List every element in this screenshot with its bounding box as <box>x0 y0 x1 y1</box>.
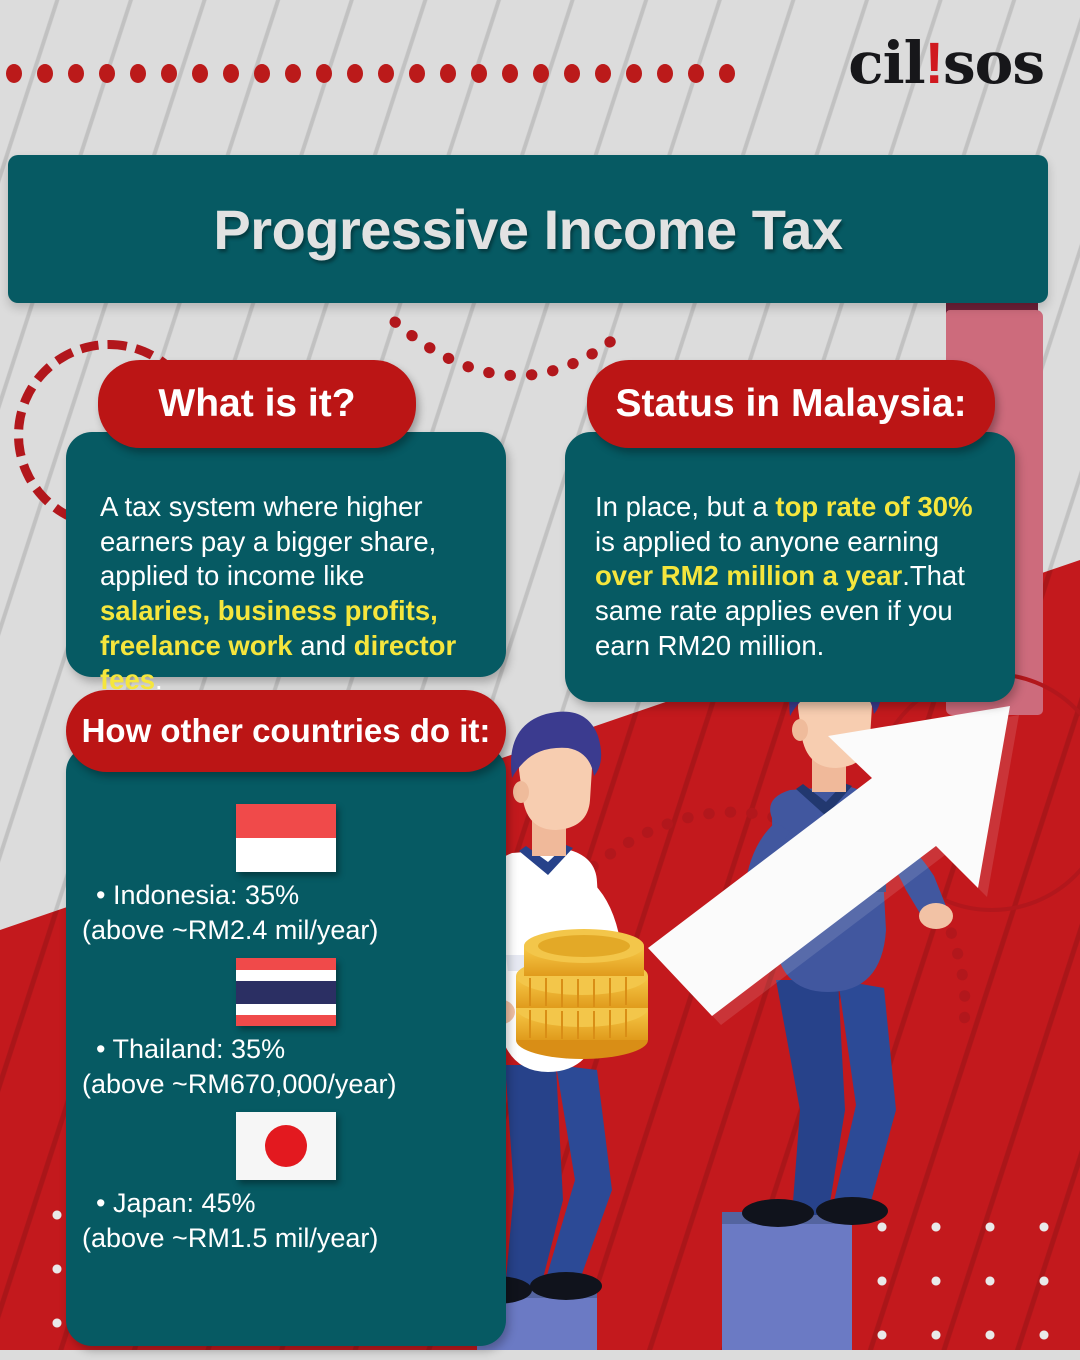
card-status-badge: Status in Malaysia: <box>587 360 995 448</box>
highlighted-text: top rate of 30% <box>775 491 972 522</box>
card-what-body: A tax system where higher earners pay a … <box>100 490 480 698</box>
thailand-flag-icon <box>236 958 336 1026</box>
indonesia-flag-icon <box>236 804 336 872</box>
card-other-countries: How other countries do it: • Indonesia: … <box>66 690 506 1300</box>
logo-text-part2: sos <box>943 34 1044 92</box>
country-text: • Japan: 45%(above ~RM1.5 mil/year) <box>66 1184 506 1256</box>
country-rate-line: • Thailand: 35% <box>96 1032 506 1067</box>
country-threshold-line: (above ~RM1.5 mil/year) <box>82 1221 506 1256</box>
country-threshold-line: (above ~RM2.4 mil/year) <box>82 913 506 948</box>
flag-wrapper <box>66 1106 506 1184</box>
card-status-body: In place, but a top rate of 30% is appli… <box>595 490 995 663</box>
japan-flag-icon <box>236 1112 336 1180</box>
highlighted-text: over RM2 million a year <box>595 560 902 591</box>
body-text: In place, but a <box>595 491 775 522</box>
country-threshold-line: (above ~RM670,000/year) <box>82 1067 506 1102</box>
country-list: • Indonesia: 35%(above ~RM2.4 mil/year)•… <box>66 798 506 1261</box>
flag-wrapper <box>66 952 506 1030</box>
logo-exclamation-icon: ! <box>925 35 943 93</box>
country-item: • Japan: 45%(above ~RM1.5 mil/year) <box>66 1106 506 1256</box>
country-text: • Indonesia: 35%(above ~RM2.4 mil/year) <box>66 876 506 948</box>
country-rate-line: • Indonesia: 35% <box>96 878 506 913</box>
body-text: is applied to anyone earning <box>595 526 939 557</box>
flag-wrapper <box>66 798 506 876</box>
title-band: Progressive Income Tax <box>8 155 1048 303</box>
card-countries-badge: How other countries do it: <box>66 690 506 772</box>
body-text: and <box>293 630 354 661</box>
cilisos-logo[interactable]: cil!sos <box>848 34 1044 93</box>
country-item: • Thailand: 35%(above ~RM670,000/year) <box>66 952 506 1102</box>
logo-text-part1: cil <box>848 34 924 92</box>
page-title: Progressive Income Tax <box>213 197 842 262</box>
card-what-is-it: What is it? A tax system where higher ea… <box>66 360 506 705</box>
body-text: . <box>155 664 163 695</box>
card-what-badge: What is it? <box>98 360 416 448</box>
card-status-in-malaysia: Status in Malaysia: In place, but a top … <box>565 360 1015 705</box>
country-text: • Thailand: 35%(above ~RM670,000/year) <box>66 1030 506 1102</box>
country-rate-line: • Japan: 45% <box>96 1186 506 1221</box>
country-item: • Indonesia: 35%(above ~RM2.4 mil/year) <box>66 798 506 948</box>
body-text: A tax system where higher earners pay a … <box>100 491 436 591</box>
